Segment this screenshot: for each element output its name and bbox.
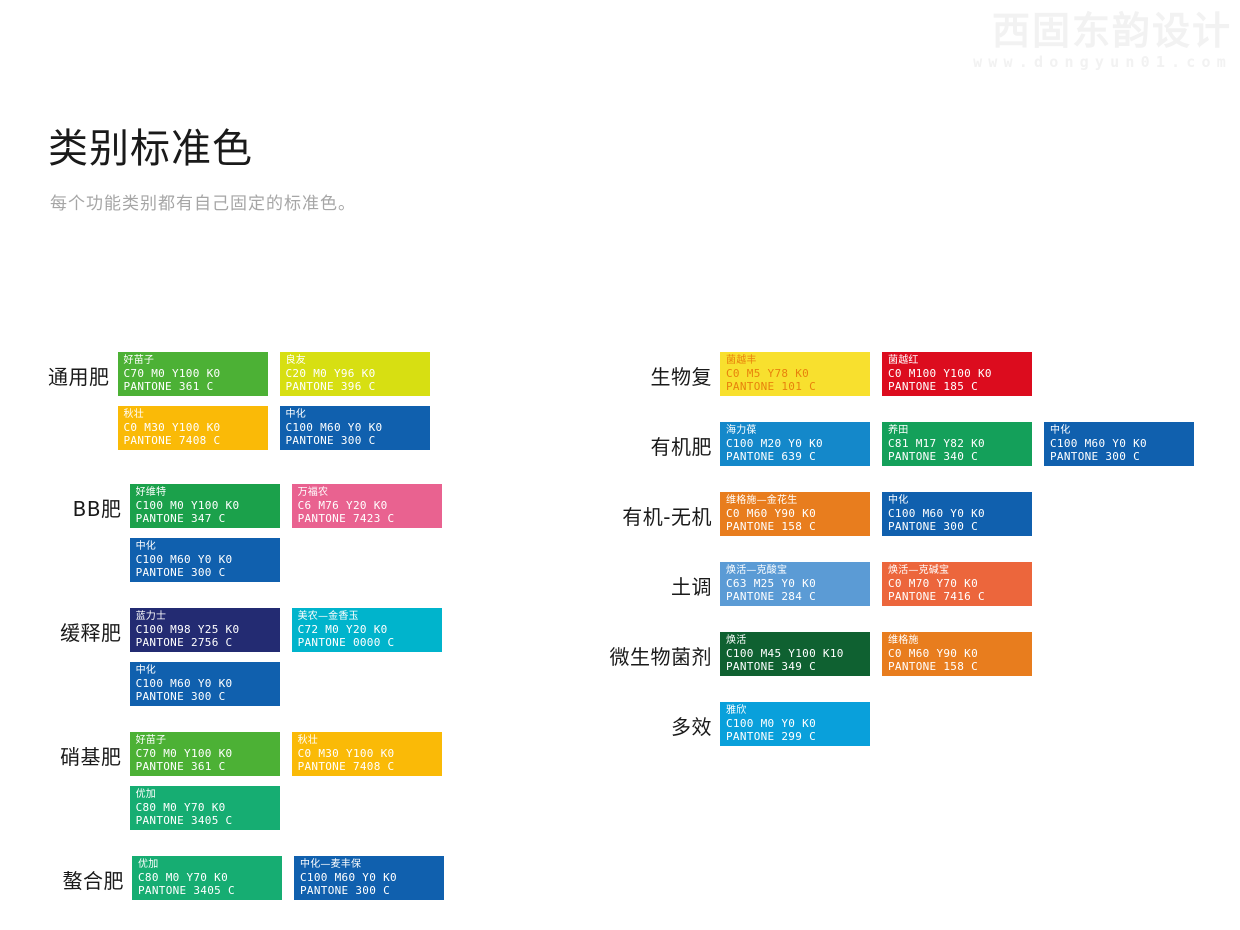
swatch-cmyk-value: C80 M0 Y70 K0 <box>138 871 282 884</box>
swatch-list: 维格施—金花生C0 M60 Y90 K0PANTONE 158 C中化C100 … <box>720 492 1044 546</box>
color-swatch[interactable]: 维格施—金花生C0 M60 Y90 K0PANTONE 158 C <box>720 492 870 536</box>
swatch-cmyk-value: C100 M60 Y0 K0 <box>300 871 444 884</box>
color-swatch[interactable]: 焕活—克酸宝C63 M25 Y0 K0PANTONE 284 C <box>720 562 870 606</box>
swatch-product-name: 秋壮 <box>298 735 442 747</box>
swatch-pantone-value: PANTONE 7408 C <box>298 760 442 773</box>
right-column: 生物复菌越丰C0 M5 Y78 K0PANTONE 101 C菌越红C0 M10… <box>600 352 1240 772</box>
swatch-product-name: 维格施 <box>888 635 1032 647</box>
swatch-cmyk-value: C0 M5 Y78 K0 <box>726 367 870 380</box>
swatch-cmyk-value: C63 M25 Y0 K0 <box>726 577 870 590</box>
color-swatch[interactable]: 好苗子C70 M0 Y100 K0PANTONE 361 C <box>118 352 268 396</box>
swatch-list: 优加C80 M0 Y70 K0PANTONE 3405 C中化—麦丰保C100 … <box>132 856 456 910</box>
category-group: 微生物菌剂焕活C100 M45 Y100 K10PANTONE 349 C维格施… <box>600 632 1240 686</box>
color-swatch[interactable]: 维格施C0 M60 Y90 K0PANTONE 158 C <box>882 632 1032 676</box>
swatch-list: 焕活—克酸宝C63 M25 Y0 K0PANTONE 284 C焕活—克碱宝C0… <box>720 562 1044 616</box>
board-columns: 通用肥好苗子C70 M0 Y100 K0PANTONE 361 C良友C20 M… <box>0 352 1240 926</box>
swatch-product-name: 中化—麦丰保 <box>300 859 444 871</box>
swatch-cmyk-value: C0 M60 Y90 K0 <box>726 507 870 520</box>
category-label: 有机-无机 <box>600 492 720 529</box>
swatch-product-name: 好维特 <box>136 487 280 499</box>
swatch-pantone-value: PANTONE 300 C <box>136 690 280 703</box>
color-swatch[interactable]: 良友C20 M0 Y96 K0PANTONE 396 C <box>280 352 430 396</box>
color-swatch[interactable]: 海力葆C100 M20 Y0 K0PANTONE 639 C <box>720 422 870 466</box>
swatch-list: 好苗子C70 M0 Y100 K0PANTONE 361 C秋壮C0 M30 Y… <box>130 732 600 840</box>
swatch-pantone-value: PANTONE 300 C <box>300 884 444 897</box>
color-swatch[interactable]: 焕活C100 M45 Y100 K10PANTONE 349 C <box>720 632 870 676</box>
swatch-cmyk-value: C100 M0 Y100 K0 <box>136 499 280 512</box>
swatch-pantone-value: PANTONE 347 C <box>136 512 280 525</box>
category-label: 通用肥 <box>48 352 118 389</box>
page-title: 类别标准色 <box>48 124 356 174</box>
color-swatch[interactable]: 雅欣C100 M0 Y0 K0PANTONE 299 C <box>720 702 870 746</box>
swatch-cmyk-value: C0 M30 Y100 K0 <box>298 747 442 760</box>
swatch-cmyk-value: C0 M30 Y100 K0 <box>124 421 268 434</box>
swatch-cmyk-value: C100 M60 Y0 K0 <box>1050 437 1194 450</box>
swatch-cmyk-value: C100 M0 Y0 K0 <box>726 717 870 730</box>
swatch-cmyk-value: C100 M60 Y0 K0 <box>136 553 280 566</box>
swatch-product-name: 海力葆 <box>726 425 870 437</box>
watermark: 西固东韵设计 www.dongyun01.com <box>973 12 1232 71</box>
swatch-pantone-value: PANTONE 340 C <box>888 450 1032 463</box>
swatch-product-name: 优加 <box>136 789 280 801</box>
category-label: 微生物菌剂 <box>600 632 720 669</box>
swatch-product-name: 万福农 <box>298 487 442 499</box>
color-swatch[interactable]: 焕活—克碱宝C0 M70 Y70 K0PANTONE 7416 C <box>882 562 1032 606</box>
swatch-pantone-value: PANTONE 396 C <box>286 380 430 393</box>
swatch-cmyk-value: C72 M0 Y20 K0 <box>298 623 442 636</box>
swatch-cmyk-value: C100 M20 Y0 K0 <box>726 437 870 450</box>
category-group: 通用肥好苗子C70 M0 Y100 K0PANTONE 361 C良友C20 M… <box>48 352 600 460</box>
swatch-pantone-value: PANTONE 2756 C <box>136 636 280 649</box>
color-swatch[interactable]: 中化C100 M60 Y0 K0PANTONE 300 C <box>1044 422 1194 466</box>
swatch-cmyk-value: C20 M0 Y96 K0 <box>286 367 430 380</box>
swatch-product-name: 好苗子 <box>136 735 280 747</box>
swatch-pantone-value: PANTONE 300 C <box>1050 450 1194 463</box>
swatch-pantone-value: PANTONE 7423 C <box>298 512 442 525</box>
swatch-pantone-value: PANTONE 361 C <box>136 760 280 773</box>
swatch-list: 菌越丰C0 M5 Y78 K0PANTONE 101 C菌越红C0 M100 Y… <box>720 352 1044 406</box>
swatch-pantone-value: PANTONE 3405 C <box>136 814 280 827</box>
color-swatch[interactable]: 秋壮C0 M30 Y100 K0PANTONE 7408 C <box>118 406 268 450</box>
category-group: 有机肥海力葆C100 M20 Y0 K0PANTONE 639 C养田C81 M… <box>600 422 1240 476</box>
swatch-product-name: 中化 <box>286 409 430 421</box>
color-swatch[interactable]: 好苗子C70 M0 Y100 K0PANTONE 361 C <box>130 732 280 776</box>
category-group: 缓释肥蓝力士C100 M98 Y25 K0PANTONE 2756 C美农—金香… <box>48 608 600 716</box>
swatch-pantone-value: PANTONE 300 C <box>888 520 1032 533</box>
swatch-list: 焕活C100 M45 Y100 K10PANTONE 349 C维格施C0 M6… <box>720 632 1044 686</box>
swatch-cmyk-value: C0 M60 Y90 K0 <box>888 647 1032 660</box>
category-group: 螯合肥优加C80 M0 Y70 K0PANTONE 3405 C中化—麦丰保C1… <box>48 856 600 910</box>
swatch-cmyk-value: C100 M45 Y100 K10 <box>726 647 870 660</box>
color-swatch[interactable]: 好维特C100 M0 Y100 K0PANTONE 347 C <box>130 484 280 528</box>
color-swatch[interactable]: 秋壮C0 M30 Y100 K0PANTONE 7408 C <box>292 732 442 776</box>
swatch-product-name: 焕活—克酸宝 <box>726 565 870 577</box>
swatch-product-name: 焕活—克碱宝 <box>888 565 1032 577</box>
swatch-pantone-value: PANTONE 0000 C <box>298 636 442 649</box>
color-swatch[interactable]: 中化C100 M60 Y0 K0PANTONE 300 C <box>280 406 430 450</box>
swatch-pantone-value: PANTONE 300 C <box>286 434 430 447</box>
swatch-product-name: 中化 <box>136 665 280 677</box>
swatch-product-name: 好苗子 <box>124 355 268 367</box>
swatch-list: 海力葆C100 M20 Y0 K0PANTONE 639 C养田C81 M17 … <box>720 422 1206 476</box>
swatch-product-name: 优加 <box>138 859 282 871</box>
swatch-product-name: 秋壮 <box>124 409 268 421</box>
color-swatch[interactable]: 菌越丰C0 M5 Y78 K0PANTONE 101 C <box>720 352 870 396</box>
swatch-pantone-value: PANTONE 349 C <box>726 660 870 673</box>
swatch-pantone-value: PANTONE 284 C <box>726 590 870 603</box>
category-group: 硝基肥好苗子C70 M0 Y100 K0PANTONE 361 C秋壮C0 M3… <box>48 732 600 840</box>
swatch-product-name: 养田 <box>888 425 1032 437</box>
category-label: 缓释肥 <box>48 608 130 645</box>
watermark-url-text: www.dongyun01.com <box>973 53 1232 71</box>
left-column: 通用肥好苗子C70 M0 Y100 K0PANTONE 361 C良友C20 M… <box>0 352 600 926</box>
color-swatch[interactable]: 中化—麦丰保C100 M60 Y0 K0PANTONE 300 C <box>294 856 444 900</box>
color-swatch[interactable]: 菌越红C0 M100 Y100 K0PANTONE 185 C <box>882 352 1032 396</box>
color-standards-board: 通用肥好苗子C70 M0 Y100 K0PANTONE 361 C良友C20 M… <box>0 352 1240 926</box>
swatch-product-name: 中化 <box>888 495 1032 507</box>
category-group: 土调焕活—克酸宝C63 M25 Y0 K0PANTONE 284 C焕活—克碱宝… <box>600 562 1240 616</box>
swatch-pantone-value: PANTONE 639 C <box>726 450 870 463</box>
category-label: 硝基肥 <box>48 732 130 769</box>
color-swatch[interactable]: 蓝力士C100 M98 Y25 K0PANTONE 2756 C <box>130 608 280 652</box>
swatch-list: 好维特C100 M0 Y100 K0PANTONE 347 C万福农C6 M76… <box>130 484 600 592</box>
swatch-pantone-value: PANTONE 185 C <box>888 380 1032 393</box>
swatch-product-name: 美农—金香玉 <box>298 611 442 623</box>
swatch-pantone-value: PANTONE 158 C <box>726 520 870 533</box>
color-swatch[interactable]: 中化C100 M60 Y0 K0PANTONE 300 C <box>882 492 1032 536</box>
category-label: 有机肥 <box>600 422 720 459</box>
color-swatch[interactable]: 养田C81 M17 Y82 K0PANTONE 340 C <box>882 422 1032 466</box>
swatch-cmyk-value: C100 M98 Y25 K0 <box>136 623 280 636</box>
swatch-cmyk-value: C0 M70 Y70 K0 <box>888 577 1032 590</box>
category-group: 生物复菌越丰C0 M5 Y78 K0PANTONE 101 C菌越红C0 M10… <box>600 352 1240 406</box>
swatch-cmyk-value: C100 M60 Y0 K0 <box>888 507 1032 520</box>
swatch-cmyk-value: C100 M60 Y0 K0 <box>286 421 430 434</box>
swatch-cmyk-value: C6 M76 Y20 K0 <box>298 499 442 512</box>
swatch-cmyk-value: C70 M0 Y100 K0 <box>136 747 280 760</box>
swatch-pantone-value: PANTONE 101 C <box>726 380 870 393</box>
swatch-product-name: 中化 <box>1050 425 1194 437</box>
swatch-product-name: 蓝力士 <box>136 611 280 623</box>
swatch-cmyk-value: C100 M60 Y0 K0 <box>136 677 280 690</box>
swatch-cmyk-value: C80 M0 Y70 K0 <box>136 801 280 814</box>
color-swatch[interactable]: 美农—金香玉C72 M0 Y20 K0PANTONE 0000 C <box>292 608 442 652</box>
category-group: 多效雅欣C100 M0 Y0 K0PANTONE 299 C <box>600 702 1240 756</box>
swatch-product-name: 维格施—金花生 <box>726 495 870 507</box>
swatch-pantone-value: PANTONE 300 C <box>136 566 280 579</box>
page-header: 类别标准色 每个功能类别都有自己固定的标准色。 <box>48 124 356 215</box>
swatch-pantone-value: PANTONE 7408 C <box>124 434 268 447</box>
page-subtitle: 每个功能类别都有自己固定的标准色。 <box>50 193 356 215</box>
category-label: 土调 <box>600 562 720 599</box>
color-swatch[interactable]: 中化C100 M60 Y0 K0PANTONE 300 C <box>130 662 280 706</box>
category-label: 多效 <box>600 702 720 739</box>
swatch-list: 雅欣C100 M0 Y0 K0PANTONE 299 C <box>720 702 882 756</box>
swatch-product-name: 菌越丰 <box>726 355 870 367</box>
category-label: 螯合肥 <box>48 856 132 893</box>
swatch-cmyk-value: C81 M17 Y82 K0 <box>888 437 1032 450</box>
category-label: 生物复 <box>600 352 720 389</box>
swatch-product-name: 雅欣 <box>726 705 870 717</box>
swatch-list: 蓝力士C100 M98 Y25 K0PANTONE 2756 C美农—金香玉C7… <box>130 608 600 716</box>
category-group: 有机-无机维格施—金花生C0 M60 Y90 K0PANTONE 158 C中化… <box>600 492 1240 546</box>
color-swatch[interactable]: 中化C100 M60 Y0 K0PANTONE 300 C <box>130 538 280 582</box>
color-swatch[interactable]: 优加C80 M0 Y70 K0PANTONE 3405 C <box>130 786 280 830</box>
swatch-pantone-value: PANTONE 158 C <box>888 660 1032 673</box>
swatch-cmyk-value: C70 M0 Y100 K0 <box>124 367 268 380</box>
swatch-pantone-value: PANTONE 361 C <box>124 380 268 393</box>
swatch-list: 好苗子C70 M0 Y100 K0PANTONE 361 C良友C20 M0 Y… <box>118 352 601 460</box>
color-swatch[interactable]: 万福农C6 M76 Y20 K0PANTONE 7423 C <box>292 484 442 528</box>
swatch-product-name: 菌越红 <box>888 355 1032 367</box>
swatch-product-name: 良友 <box>286 355 430 367</box>
color-swatch[interactable]: 优加C80 M0 Y70 K0PANTONE 3405 C <box>132 856 282 900</box>
swatch-pantone-value: PANTONE 299 C <box>726 730 870 743</box>
category-label: BB肥 <box>48 484 130 521</box>
swatch-product-name: 焕活 <box>726 635 870 647</box>
swatch-pantone-value: PANTONE 3405 C <box>138 884 282 897</box>
swatch-cmyk-value: C0 M100 Y100 K0 <box>888 367 1032 380</box>
category-group: BB肥好维特C100 M0 Y100 K0PANTONE 347 C万福农C6 … <box>48 484 600 592</box>
watermark-brand-text: 西固东韵设计 <box>973 12 1232 52</box>
swatch-pantone-value: PANTONE 7416 C <box>888 590 1032 603</box>
swatch-product-name: 中化 <box>136 541 280 553</box>
